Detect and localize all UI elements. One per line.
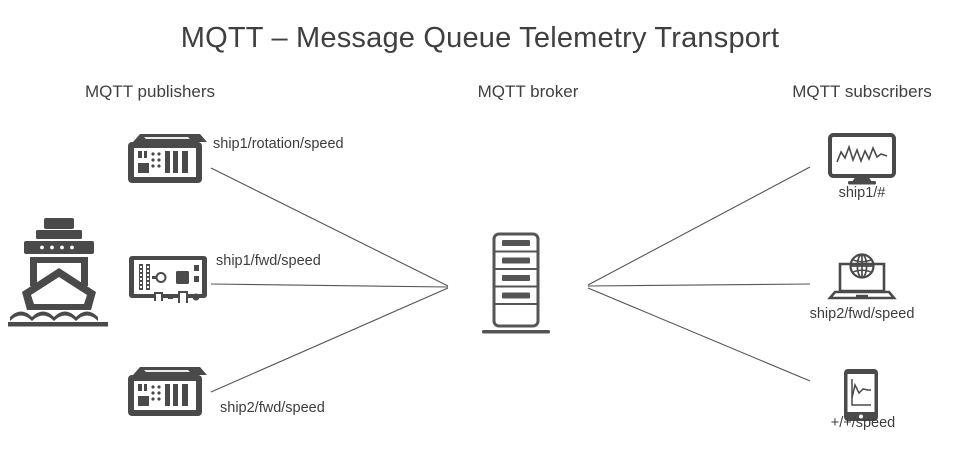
link-publisher-2-to-broker (211, 284, 448, 287)
publisher-topic-label-1: ship1/rotation/speed (213, 136, 344, 152)
publisher-topic-label-2: ship1/fwd/speed (216, 253, 321, 269)
laptop-globe-icon (826, 252, 898, 304)
industrial-gateway-icon-1 (126, 133, 208, 185)
ship-icon (8, 208, 110, 330)
link-broker-to-subscriber-1 (588, 167, 810, 285)
subscriber-topic-label-1: ship1/# (802, 185, 922, 201)
publisher-topic-label-3: ship2/fwd/speed (220, 400, 325, 416)
mqtt-architecture-diagram: MQTT – Message Queue Telemetry Transport… (0, 0, 960, 458)
link-broker-to-subscriber-3 (588, 288, 810, 381)
subscriber-topic-label-2: ship2/fwd/speed (795, 306, 929, 322)
server-rack-icon (480, 232, 552, 336)
subscriber-topic-label-3: +/+/speed (806, 415, 920, 431)
link-publisher-3-to-broker (211, 288, 448, 392)
circuit-board-icon (128, 254, 208, 306)
monitor-waveform-icon (828, 133, 896, 185)
industrial-gateway-icon-2 (126, 366, 208, 418)
link-broker-to-subscriber-2 (588, 284, 810, 286)
